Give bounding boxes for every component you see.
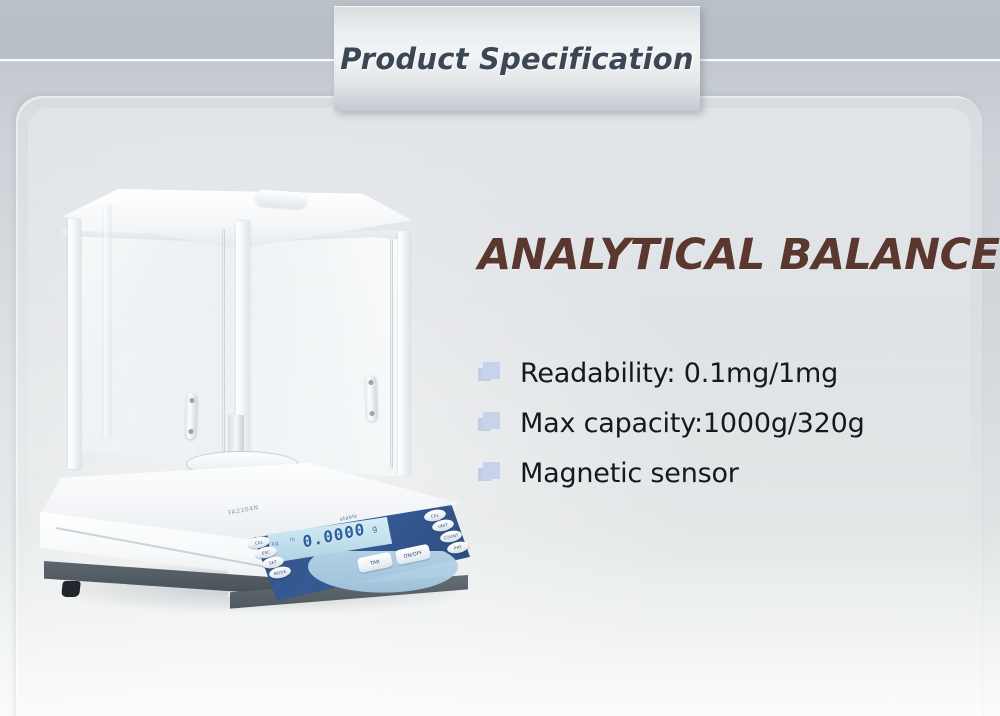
spec-list: Readability: 0.1mg/1mg Max capacity:1000… [478, 348, 978, 498]
leveling-foot [61, 581, 81, 597]
door-handle-left [185, 393, 198, 439]
shield-post-front-right [398, 231, 410, 475]
page-title: Product Specification [340, 42, 693, 76]
draft-shield [60, 175, 420, 495]
bullet-square-icon [478, 412, 500, 434]
analytical-balance-illustration: FA2204N 0.0000 g kg lb stable CAL ESC SE… [40, 175, 470, 635]
spec-item-magnetic-sensor: Magnetic sensor [478, 448, 978, 498]
top-door-knob [256, 189, 307, 208]
spec-label-readability: Readability: 0.1mg/1mg [520, 358, 838, 389]
door-handle-right [365, 375, 378, 421]
header-banner: Product Specification [334, 6, 700, 111]
glass-door-right [246, 225, 406, 477]
spec-item-readability: Readability: 0.1mg/1mg [478, 348, 978, 398]
slide-rail-right [390, 239, 393, 469]
lcd-annunciator-lb: lb [289, 537, 296, 544]
product-spec-page: Product Specification [0, 0, 1000, 716]
shield-post-front-left [68, 219, 81, 469]
glass-door-left [68, 215, 246, 465]
product-copy-block: ANALYTICAL BALANCE Readability: 0.1mg/1m… [478, 230, 978, 498]
spec-label-magnetic-sensor: Magnetic sensor [520, 458, 739, 489]
spec-item-max-capacity: Max capacity:1000g/320g [478, 398, 978, 448]
product-headline: ANALYTICAL BALANCE [478, 230, 978, 280]
slide-rail-left [222, 229, 225, 467]
shield-post-back-left [104, 205, 111, 437]
spec-label-max-capacity: Max capacity:1000g/320g [520, 408, 865, 439]
bullet-square-icon [478, 362, 500, 384]
bullet-square-icon [478, 462, 500, 484]
